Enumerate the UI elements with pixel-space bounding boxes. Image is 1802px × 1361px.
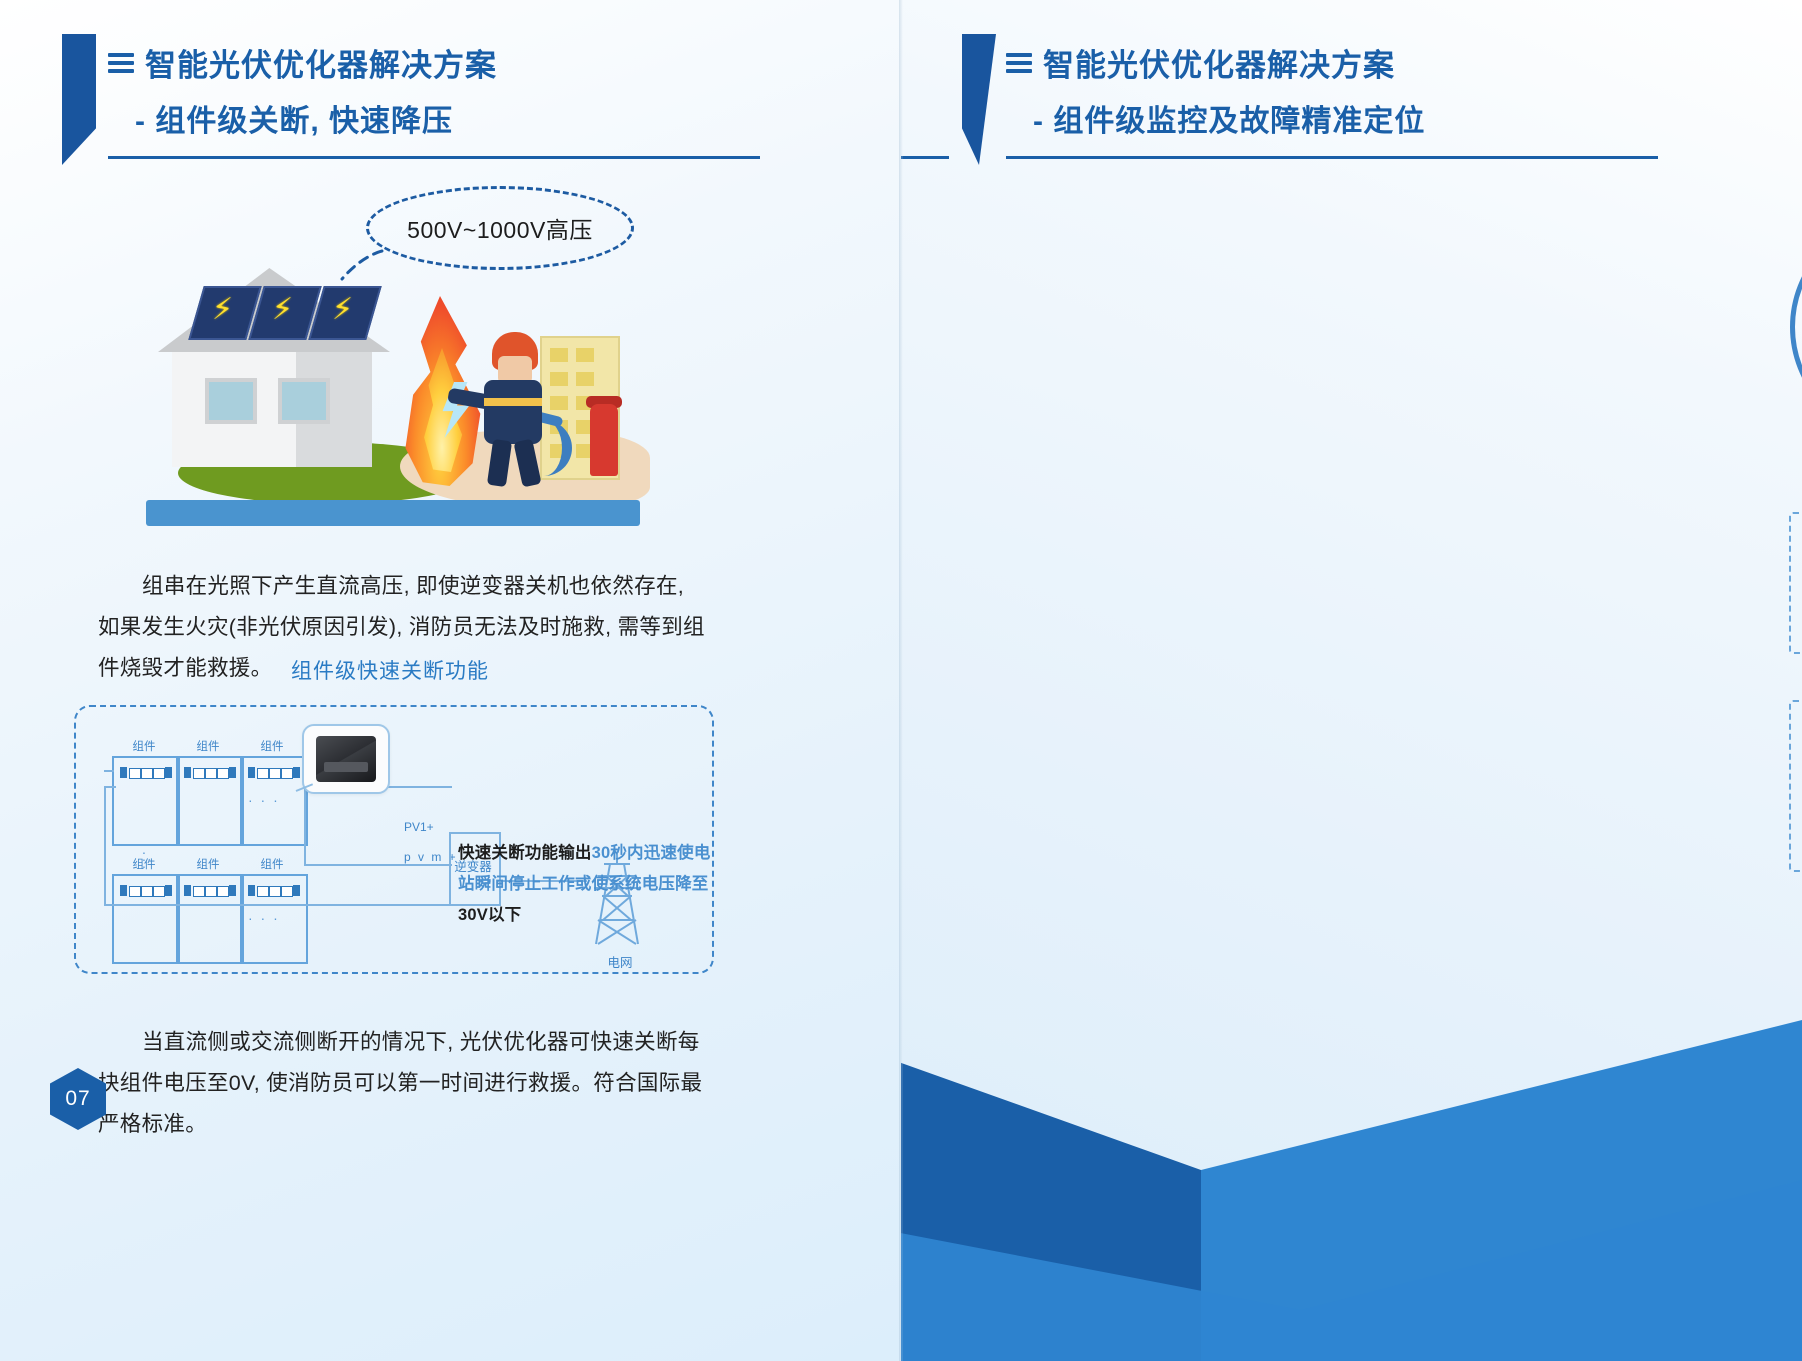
wire-left-bus xyxy=(104,786,106,906)
header-flag-shape xyxy=(62,34,96,165)
step-box-01 xyxy=(1789,512,1802,654)
header-underline xyxy=(108,156,760,159)
house-window-shape xyxy=(205,378,257,424)
house-body-shape xyxy=(172,345,372,467)
pv-positive-label: PV1+ xyxy=(404,820,434,834)
wire-segment xyxy=(104,770,114,772)
pv-module-shape xyxy=(112,756,180,846)
left-page: 智能光伏优化器解决方案 - 组件级关断, 快速降压 500V~1000V高压 xyxy=(0,0,901,1361)
wire-bottom-bus xyxy=(104,904,306,906)
module-label: 组件 xyxy=(176,738,240,754)
annotation-line2: 瞬间停止工作或使系统电压降至 xyxy=(475,875,709,893)
left-header-title-row: 智能光伏优化器解决方案 xyxy=(108,40,497,85)
module-label: 组件 xyxy=(240,856,304,872)
voltage-bubble-text: 500V~1000V高压 xyxy=(407,211,593,245)
step-box-02 xyxy=(1789,700,1802,872)
wire-vertical xyxy=(304,786,306,866)
left-page-subtitle: - 组件级关断, 快速降压 xyxy=(108,96,497,140)
pv-module-shape xyxy=(240,756,308,846)
optimizer-device-shape xyxy=(316,736,376,782)
pv-module-shape xyxy=(176,756,244,846)
fire-hydrant-icon xyxy=(590,404,618,476)
right-page-subtitle: - 组件级监控及故障精准定位 xyxy=(1006,96,1425,140)
right-page-header: 智能光伏优化器解决方案 - 组件级监控及故障精准定位 xyxy=(962,34,1642,169)
pv-module-shape xyxy=(112,874,180,964)
grid-label: 电网 xyxy=(590,952,650,971)
module-label: 组件 xyxy=(240,738,304,754)
shutdown-annotation: 快速关断功能输出30秒内迅速使电站瞬间停止工作或使系统电压降至30V以下 xyxy=(458,838,726,931)
monitoring-icon-circle xyxy=(1790,214,1802,440)
left-paragraph-bottom: 当直流侧或交流侧断开的情况下, 光伏优化器可快速关断每块组件电压至0V, 使消防… xyxy=(98,1022,710,1145)
wire-horizontal xyxy=(304,864,452,866)
lightning-bolt-icon: ⚡ xyxy=(332,292,353,327)
right-page: 智能光伏优化器解决方案 - 组件级监控及故障精准定位 xyxy=(901,0,1802,1361)
fireman-body-shape xyxy=(484,380,542,444)
header-underline-stub xyxy=(901,156,949,159)
wire-horizontal xyxy=(304,904,452,906)
hamburger-icon xyxy=(1006,53,1032,73)
right-header-title-row: 智能光伏优化器解决方案 xyxy=(1006,40,1425,85)
bottom-hill-shapes xyxy=(901,880,1802,1361)
left-page-title: 智能光伏优化器解决方案 xyxy=(145,40,497,85)
right-page-title: 智能光伏优化器解决方案 xyxy=(1043,40,1395,85)
pv-module-shape xyxy=(176,874,244,964)
module-label: 组件 xyxy=(112,856,176,872)
header-flag-shape xyxy=(962,34,996,165)
ground-bar-shape xyxy=(146,500,640,526)
voltage-speech-bubble: 500V~1000V高压 xyxy=(366,186,634,270)
left-page-header: 智能光伏优化器解决方案 - 组件级关断, 快速降压 xyxy=(62,34,742,169)
pv-module-shape xyxy=(240,874,308,964)
wire-stub xyxy=(104,786,116,788)
annotation-highlight-2: 30V以下 xyxy=(458,906,521,924)
header-underline xyxy=(1006,156,1658,159)
fireman-stripe-shape xyxy=(484,398,542,406)
bubble-tail-icon xyxy=(338,245,384,281)
lightning-bolt-icon: ⚡ xyxy=(272,292,293,327)
house-window-shape xyxy=(278,378,330,424)
hamburger-icon xyxy=(108,53,134,73)
diagram-title: 组件级快速关断功能 xyxy=(0,655,780,685)
module-label: 组件 xyxy=(176,856,240,872)
annotation-lead: 快速关断功能输出 xyxy=(458,844,592,862)
page-gutter xyxy=(899,0,903,1361)
lightning-bolt-icon: ⚡ xyxy=(212,292,233,327)
module-label: 组件 xyxy=(112,738,176,754)
optimizer-device-photo xyxy=(302,724,390,794)
brochure-spread: 智能光伏优化器解决方案 - 组件级关断, 快速降压 500V~1000V高压 xyxy=(0,0,1802,1361)
